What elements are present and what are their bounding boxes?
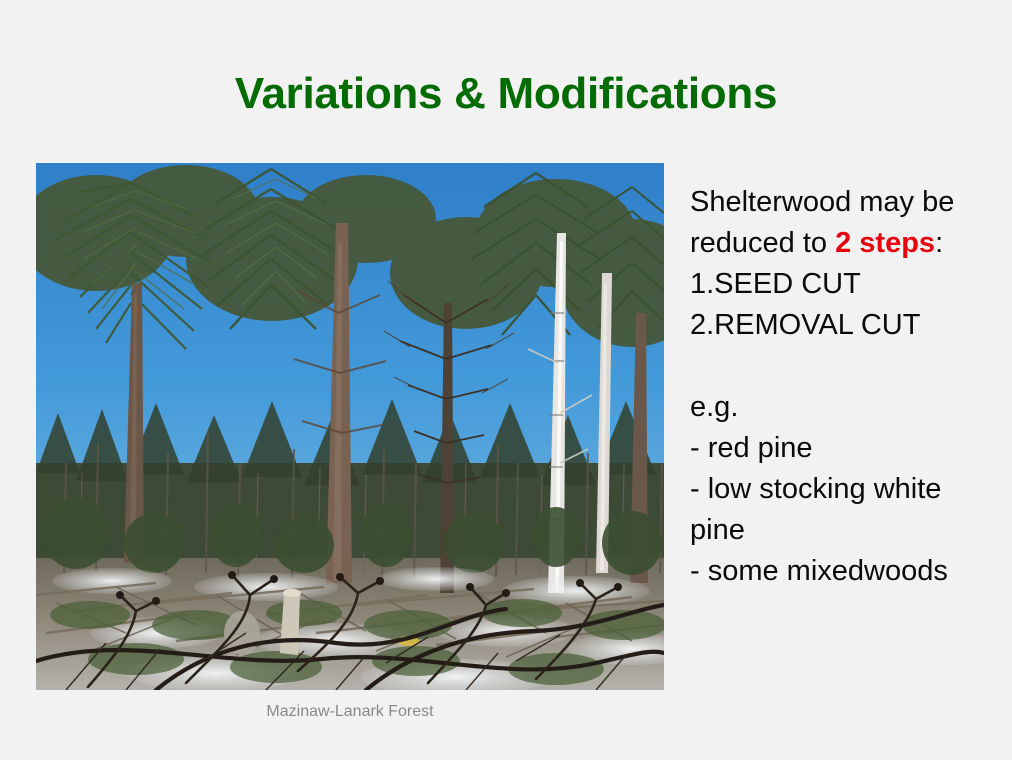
body-line-2-pre: reduced to xyxy=(690,227,835,259)
body-line-2-post: : xyxy=(935,227,943,259)
body-line-red-pine: - red pine xyxy=(690,428,1000,469)
forest-photo-graphic xyxy=(36,163,664,690)
body-text-block: Shelterwood may be reduced to 2 steps: 1… xyxy=(690,182,1000,592)
slide-canvas: Variations & Modifications xyxy=(0,0,1012,760)
body-line-eg: e.g. xyxy=(690,387,1000,428)
body-line-step-1: 1.SEED CUT xyxy=(690,264,1000,305)
photo-caption: Mazinaw-Lanark Forest xyxy=(36,701,664,723)
body-line-step-2: 2.REMOVAL CUT xyxy=(690,305,1000,346)
page-title: Variations & Modifications xyxy=(0,68,1012,120)
body-line-mixedwoods: - some mixedwoods xyxy=(690,551,1000,592)
forest-photo xyxy=(36,163,664,690)
body-line-1: Shelterwood may be xyxy=(690,182,1000,223)
body-line-2-emphasis: 2 steps xyxy=(835,227,935,259)
body-line-2: reduced to 2 steps: xyxy=(690,223,1000,264)
body-spacer xyxy=(690,346,1000,387)
body-line-white-pine: - low stocking white pine xyxy=(690,469,1000,551)
photo-figure: Mazinaw-Lanark Forest xyxy=(36,163,664,690)
